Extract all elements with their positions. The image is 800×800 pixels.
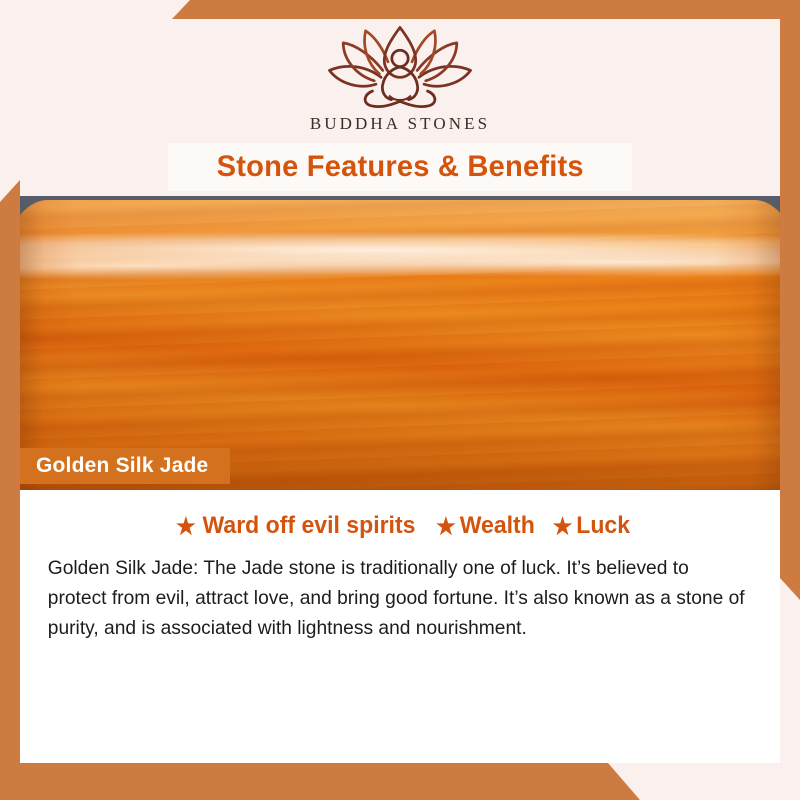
content-panel: ★ Ward off evil spirits ★ Wealth ★ Luck … (20, 490, 780, 763)
page-title: Stone Features & Benefits (216, 150, 583, 184)
stone-gloss-highlight (20, 200, 780, 320)
star-icon: ★ (176, 515, 196, 538)
frame-right-accent (780, 0, 800, 600)
stone-description: Golden Silk Jade: The Jade stone is trad… (34, 553, 757, 643)
stone-hero-image (20, 194, 780, 490)
benefit-item: ★ Luck (552, 512, 629, 540)
benefit-label: Ward off evil spirits (202, 512, 415, 540)
lotus-meditation-icon (314, 24, 486, 110)
benefit-label: Wealth (460, 512, 535, 540)
promo-card: Golden Silk Jade (0, 0, 800, 800)
benefit-item: ★ Wealth (436, 512, 535, 540)
title-panel: Stone Features & Benefits (168, 143, 632, 191)
benefit-item: ★ Ward off evil spirits (176, 512, 415, 540)
brand-logo: BUDDHA STONES (0, 24, 800, 134)
card-header: BUDDHA STONES Stone Features & Benefits (0, 0, 800, 196)
frame-left-accent (0, 180, 20, 800)
stone-name-label: Golden Silk Jade (36, 454, 208, 478)
benefits-list: ★ Ward off evil spirits ★ Wealth ★ Luck (34, 512, 768, 540)
golden-silk-jade-stone (20, 200, 780, 490)
benefit-label: Luck (576, 512, 630, 540)
star-icon: ★ (552, 515, 572, 538)
brand-name-text: BUDDHA STONES (0, 114, 800, 134)
frame-bottom-accent (0, 763, 640, 800)
stone-name-banner: Golden Silk Jade (20, 448, 230, 484)
star-icon: ★ (436, 515, 456, 538)
